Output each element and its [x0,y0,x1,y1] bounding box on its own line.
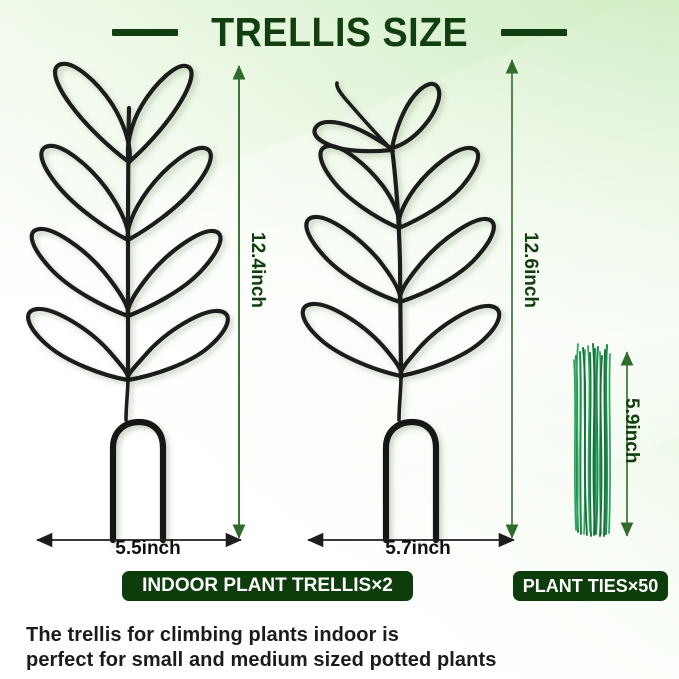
dimension-label-width-left: 5.5inch [48,538,248,560]
trellis-right-artwork [303,83,500,540]
dimension-label-height-right: 12.6inch [519,232,541,308]
caption-line-2: perfect for small and medium sized potte… [26,648,666,673]
caption: The trellis for climbing plants indoor i… [26,623,666,673]
product-infographic: TRELLIS SIZE .wire { fill:none; stroke:#… [0,0,679,679]
trellis-left-artwork [28,64,228,540]
plant-ties-artwork [574,344,610,536]
dimension-label-width-right: 5.7inch [318,538,518,560]
caption-line-1: The trellis for climbing plants indoor i… [26,623,666,648]
dimension-label-height-ties: 5.9inch [620,398,642,463]
badge-indoor-plant-trellis: INDOOR PLANT TRELLIS×2 [122,571,413,601]
dimension-label-height-left: 12.4inch [246,232,268,308]
badge-plant-ties: PLANT TIES×50 [513,571,668,601]
